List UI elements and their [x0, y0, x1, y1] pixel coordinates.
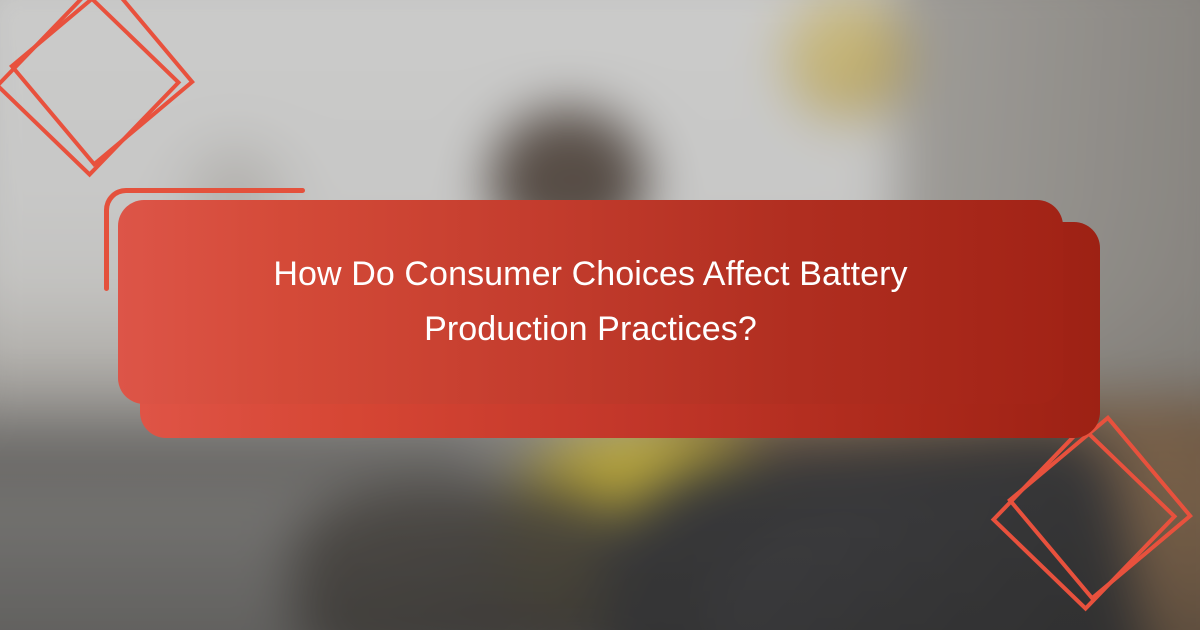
title-card-canvas: How Do Consumer Choices Affect Battery P…: [0, 0, 1200, 630]
title-card: How Do Consumer Choices Affect Battery P…: [118, 200, 1063, 404]
page-title: How Do Consumer Choices Affect Battery P…: [211, 247, 971, 357]
